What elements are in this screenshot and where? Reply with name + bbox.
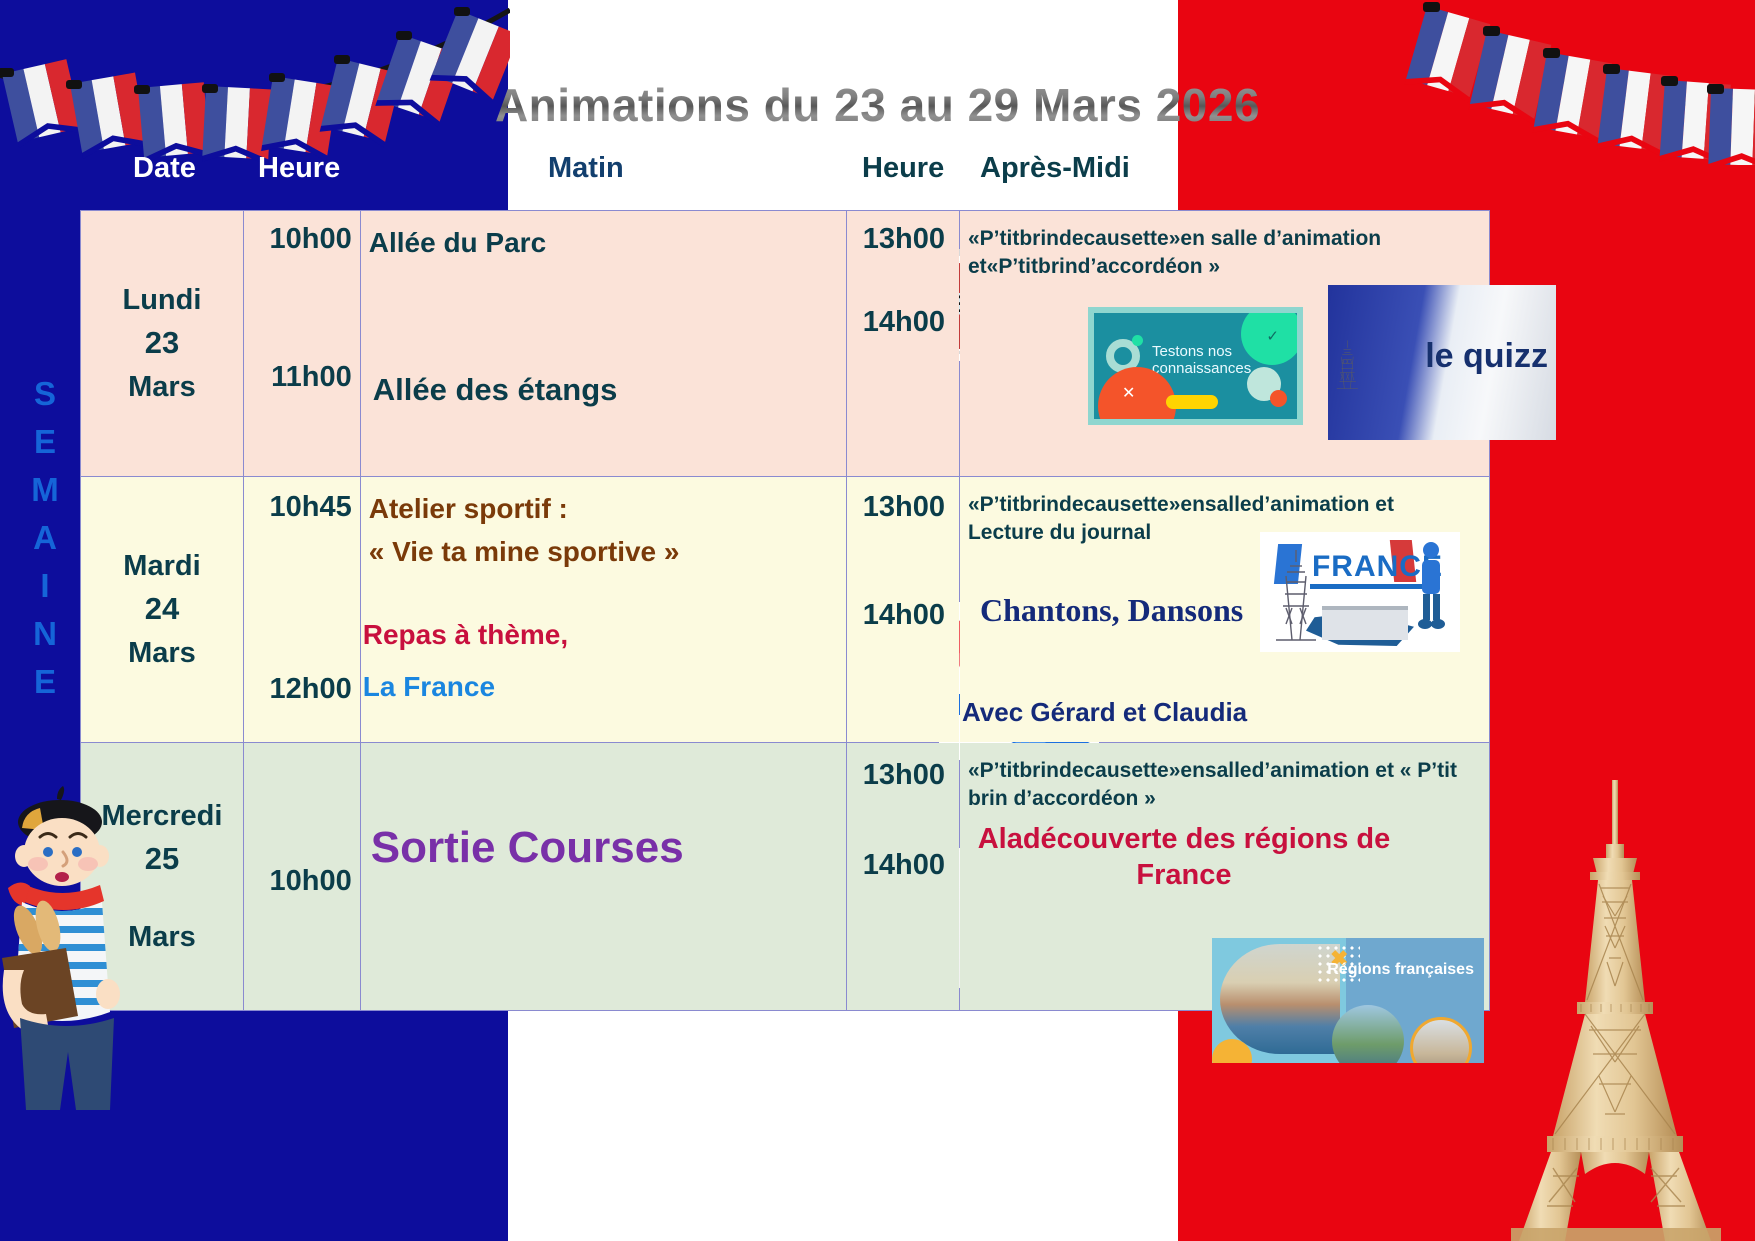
le-quizz-image: le quizz: [1328, 285, 1556, 440]
afternoon-activity: Aladécouverte des régions de France: [964, 821, 1404, 894]
hour-value: 13h00: [863, 759, 945, 792]
hour-value: 12h00: [270, 673, 352, 706]
schedule-table: Lundi 23 Mars 10h00 11h00 Allée du Parc …: [80, 210, 1490, 1011]
morning-cell-monday: Allée du Parc Allée des étangs MEMORY!: [360, 211, 846, 477]
day-name: Mardi: [81, 545, 243, 587]
semaine-vertical-label: S E M A I N E: [22, 370, 68, 706]
hour-cell-monday-afternoon: 13h00 14h00: [847, 211, 960, 477]
month-name: Mars: [81, 366, 243, 408]
hour-value: 13h00: [863, 491, 945, 524]
table-row: Mardi 24 Mars 10h45 12h00 Atelier sporti…: [81, 477, 1490, 743]
regions-label: Régions françaises: [1327, 960, 1474, 979]
hour-cell-tuesday-morning: 10h45 12h00: [243, 477, 360, 743]
hour-cell-tuesday-afternoon: 13h00 14h00: [847, 477, 960, 743]
semaine-letter: E: [34, 418, 56, 466]
morning-activity: « Vie ta mine sportive »: [369, 534, 836, 569]
column-headers: Date Heure Matin Heure Après-Midi: [0, 152, 1755, 208]
header-matin: Matin: [548, 152, 624, 185]
afternoon-activity: Chantons, Dansons: [980, 592, 1243, 629]
date-cell-tuesday: Mardi 24 Mars: [81, 477, 244, 743]
header-date: Date: [133, 152, 196, 185]
afternoon-note: «P’titbrindecausette»ensalled’animation …: [968, 757, 1468, 814]
quiz-knowledge-image: ✓ Testons nos connaissances ✕: [1088, 307, 1303, 425]
day-name: Lundi: [81, 279, 243, 321]
afternoon-cell-wednesday: «P’titbrindecausette»ensalled’animation …: [959, 743, 1489, 1011]
french-man-with-baguette-icon: [0, 780, 120, 1110]
header-apres-midi: Après-Midi: [980, 152, 1130, 185]
semaine-letter: M: [31, 466, 59, 514]
hour-value: 14h00: [863, 849, 945, 882]
semaine-letter: E: [34, 658, 56, 706]
france-landmarks-image: FRANCE: [1260, 532, 1460, 652]
morning-activity: Repas à thème,: [363, 617, 568, 652]
hour-value: 11h00: [271, 361, 352, 394]
hour-cell-monday-morning: 10h00 11h00: [243, 211, 360, 477]
day-number: 23: [81, 321, 243, 366]
header-heure-afternoon: Heure: [862, 152, 944, 185]
afternoon-cell-tuesday: «P’titbrindecausette»ensalled’animation …: [959, 477, 1489, 743]
regions-francaises-image: ✖ Régions françaises: [1212, 938, 1484, 1063]
date-cell-monday: Lundi 23 Mars: [81, 211, 244, 477]
afternoon-cell-monday: «P’titbrindecausette»en salle d’animatio…: [959, 211, 1489, 477]
hour-value: 10h00: [270, 865, 352, 898]
day-number: 24: [81, 587, 243, 632]
semaine-letter: A: [33, 514, 57, 562]
semaine-letter: N: [33, 610, 57, 658]
morning-activity: Atelier sportif :: [369, 491, 836, 526]
morning-activity: Sortie Courses: [371, 823, 684, 873]
table-row: Lundi 23 Mars 10h00 11h00 Allée du Parc …: [81, 211, 1490, 477]
hour-value: 13h00: [863, 223, 945, 256]
month-name: Mars: [81, 632, 243, 674]
afternoon-hosts: Avec Gérard et Claudia: [962, 697, 1247, 728]
hour-cell-wednesday-morning: 10h00: [243, 743, 360, 1011]
table-row: Mercredi 25 Mars 10h00 Sortie Courses: [81, 743, 1490, 1011]
hour-value: 10h00: [270, 223, 352, 256]
semaine-letter: I: [40, 562, 49, 610]
hour-value: 14h00: [863, 306, 945, 339]
afternoon-note: «P’titbrindecausette»en salle d’animatio…: [968, 225, 1388, 282]
hour-value: 14h00: [863, 599, 945, 632]
le-quizz-label: le quizz: [1425, 337, 1548, 376]
semaine-letter: S: [34, 370, 56, 418]
morning-cell-tuesday: Atelier sportif : « Vie ta mine sportive…: [360, 477, 846, 743]
hour-value: 10h45: [270, 491, 352, 524]
page-title: Animations du 23 au 29 Mars 2026: [0, 78, 1755, 132]
morning-activity: La France: [363, 669, 495, 704]
morning-cell-wednesday: Sortie Courses: [360, 743, 846, 1011]
hour-cell-wednesday-afternoon: 13h00 14h00: [847, 743, 960, 1011]
header-heure-morning: Heure: [258, 152, 340, 185]
morning-activity: Allée du Parc: [369, 225, 836, 260]
eiffel-tower-icon: [1495, 776, 1735, 1241]
morning-activity: Allée des étangs: [373, 371, 618, 410]
